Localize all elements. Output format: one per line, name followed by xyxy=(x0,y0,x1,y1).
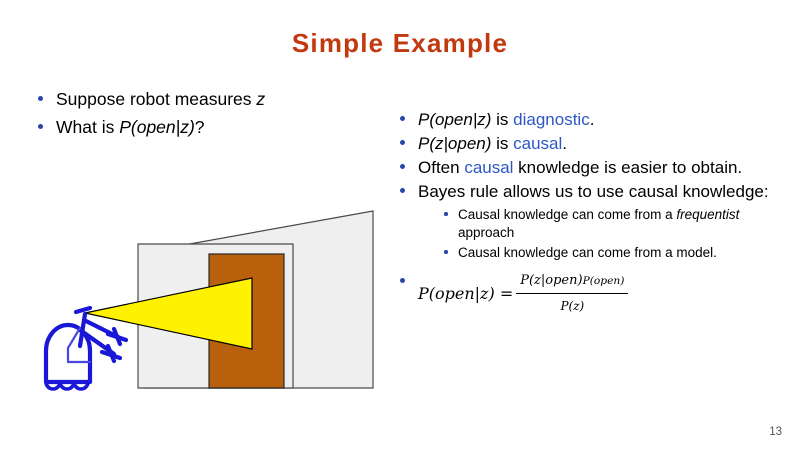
bullet-dot-icon xyxy=(38,96,43,101)
sub-bullet-list: Causal knowledge can come from a frequen… xyxy=(440,206,786,262)
formula-lhs: P(open|z) xyxy=(418,284,495,303)
list-item: P(z|open) is causal. xyxy=(396,132,786,155)
sub-list-item: Causal knowledge can come from a model. xyxy=(440,244,786,262)
formula-equals: = xyxy=(500,284,513,303)
bullet-dot-icon xyxy=(444,212,448,216)
sub-list-item: Causal knowledge can come from a frequen… xyxy=(440,206,786,242)
bullet-text-pre: Often xyxy=(418,158,464,177)
robot-sensor-cross-lower xyxy=(102,352,120,358)
list-item: Suppose robot measures z xyxy=(34,86,374,112)
bayes-formula-item: P(open|z) =P(z|open)P(open)P(z) xyxy=(396,270,786,319)
bullet-dot-icon xyxy=(38,124,43,129)
formula-numerator-sub: P(open) xyxy=(583,274,625,287)
bullet-text-highlight: diagnostic xyxy=(513,110,590,129)
bullet-dot-icon xyxy=(400,140,405,145)
bullet-text-pre: What is xyxy=(56,117,119,137)
sub-text-pre: Causal knowledge can come from a model. xyxy=(458,245,717,260)
sub-text-pre: Causal knowledge can come from a xyxy=(458,207,676,222)
robot xyxy=(46,308,126,389)
robot-sensor-head xyxy=(76,308,90,312)
formula-numerator-main: P(z|open) xyxy=(520,273,582,288)
bullet-text-post: knowledge is easier to obtain. xyxy=(513,158,742,177)
formula-numerator: P(z|open)P(open) xyxy=(516,269,628,294)
bullet-text-math: P(open|z) xyxy=(119,117,195,137)
bullet-text-math: P(open|z) xyxy=(418,110,491,129)
bullet-text-pre: Suppose robot measures xyxy=(56,89,256,109)
robot-sensing-door-diagram xyxy=(28,196,408,426)
bullet-dot-icon xyxy=(444,250,448,254)
page-title: Simple Example xyxy=(0,28,800,59)
bullet-text-post: . xyxy=(562,134,567,153)
formula-fraction: P(z|open)P(open)P(z) xyxy=(516,269,628,318)
bullet-dot-icon xyxy=(400,164,405,169)
bullet-text-pre: is xyxy=(491,134,513,153)
sub-text-italic: frequentist xyxy=(676,207,739,222)
bullet-dot-icon xyxy=(400,188,405,193)
bullet-text-pre: Bayes rule allows us to use causal knowl… xyxy=(418,182,769,201)
list-item: What is P(open|z)? xyxy=(34,114,374,140)
bullet-text-post: . xyxy=(590,110,595,129)
list-item: Bayes rule allows us to use causal knowl… xyxy=(396,180,786,262)
sub-text-post: approach xyxy=(458,225,514,240)
right-bullet-column: P(open|z) is diagnostic. P(z|open) is ca… xyxy=(396,108,786,320)
bullet-text-math: P(z|open) xyxy=(418,134,491,153)
left-bullet-column: Suppose robot measures z What is P(open|… xyxy=(34,86,374,142)
page-number: 13 xyxy=(769,426,782,438)
bayes-formula: P(open|z) =P(z|open)P(open)P(z) xyxy=(418,270,628,319)
left-bullet-list: Suppose robot measures z What is P(open|… xyxy=(34,86,374,140)
bullet-text-post: ? xyxy=(195,117,205,137)
robot-sensor-cross-upper xyxy=(108,334,126,340)
list-item: Often causal knowledge is easier to obta… xyxy=(396,156,786,179)
bullet-dot-icon xyxy=(400,116,405,121)
bullet-text-pre: is xyxy=(491,110,513,129)
list-item: P(open|z) is diagnostic. xyxy=(396,108,786,131)
right-bullet-list: P(open|z) is diagnostic. P(z|open) is ca… xyxy=(396,108,786,319)
bullet-text-math: z xyxy=(256,89,265,109)
bullet-text-highlight: causal xyxy=(513,134,562,153)
formula-denominator: P(z) xyxy=(516,294,628,318)
bullet-text-highlight: causal xyxy=(464,158,513,177)
